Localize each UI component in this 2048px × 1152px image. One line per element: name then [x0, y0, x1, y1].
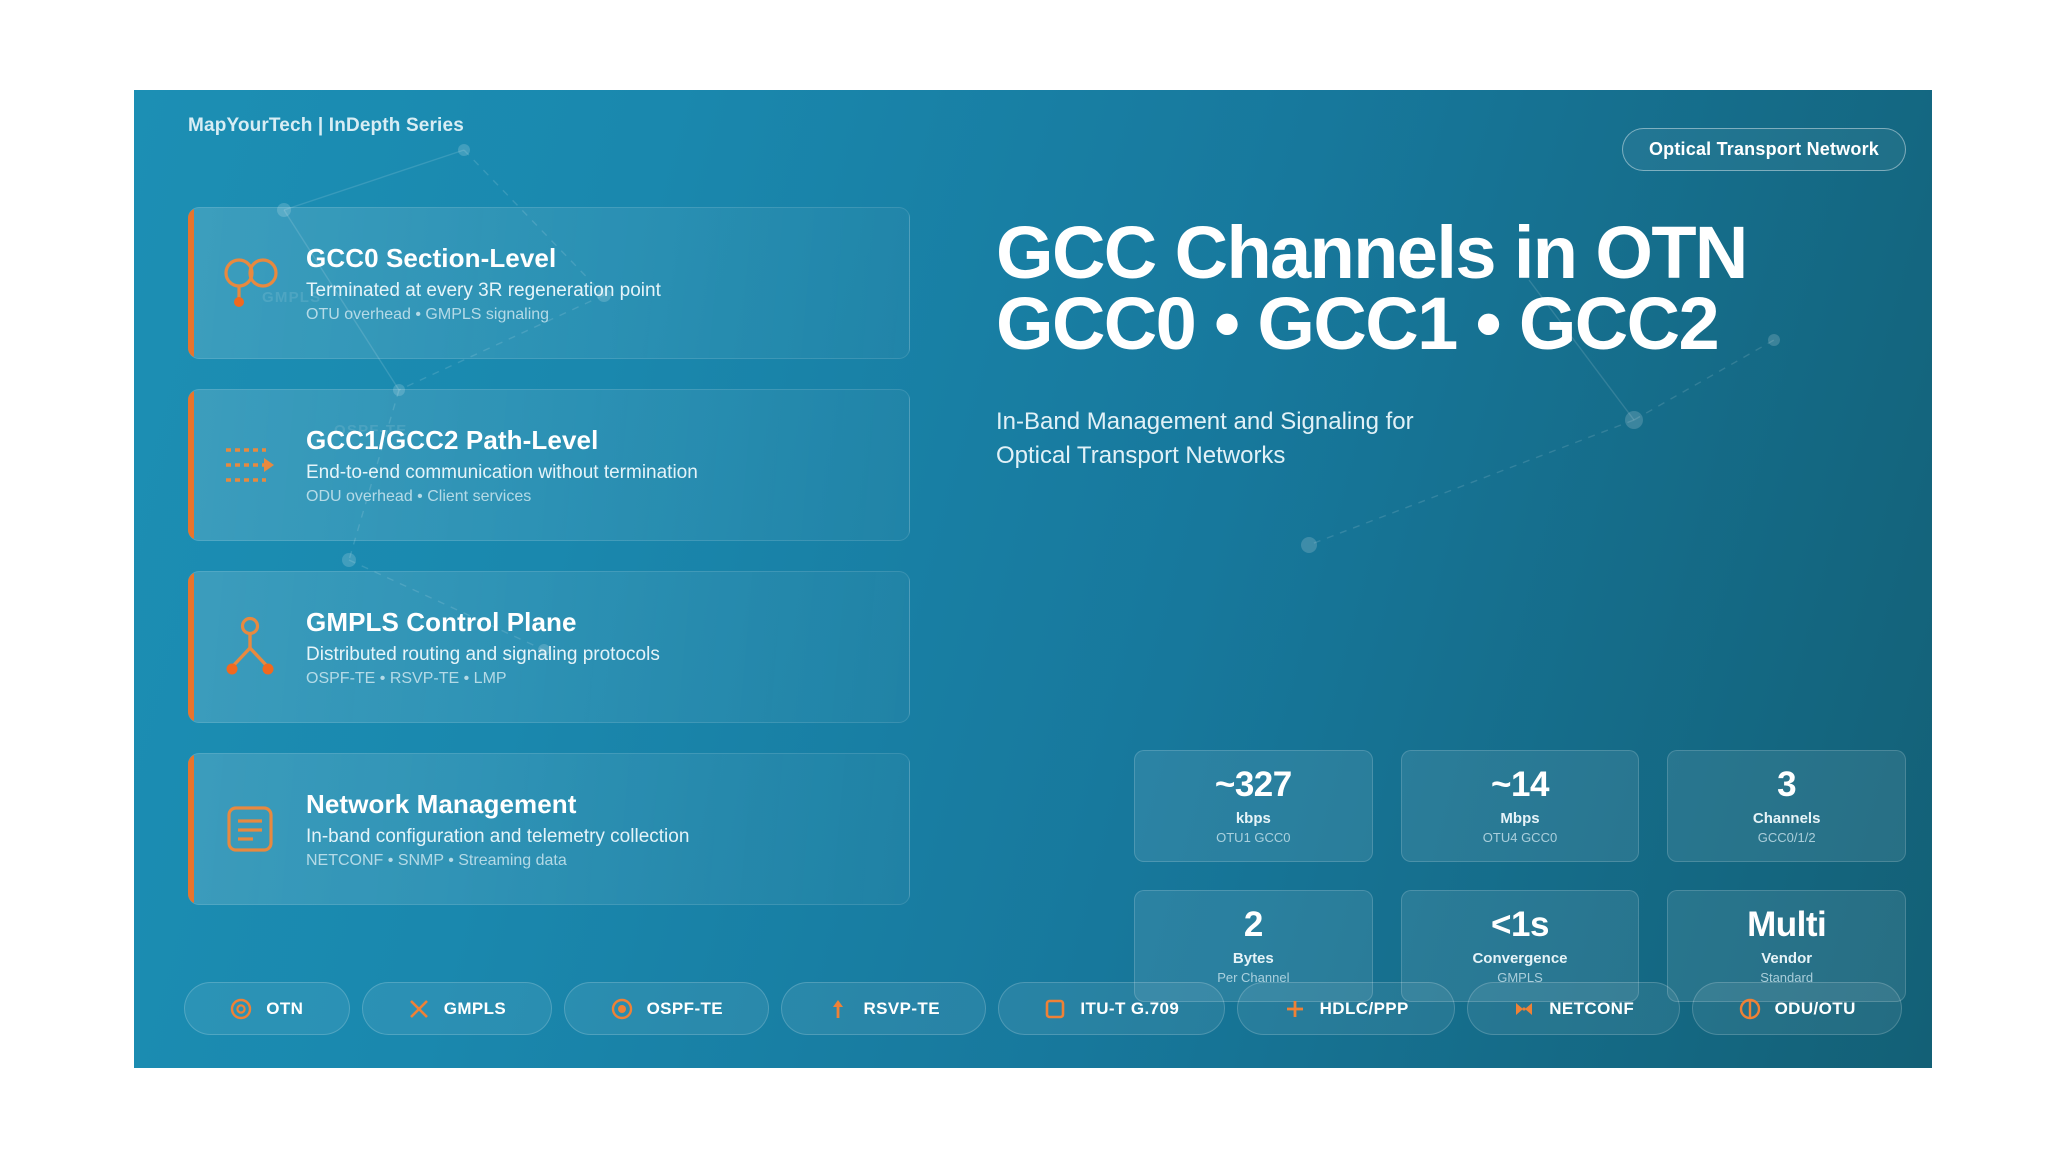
stat-value: ~14	[1491, 767, 1549, 802]
bowtie-icon	[1513, 998, 1535, 1020]
feature-card-title: GCC0 Section-Level	[306, 243, 661, 274]
page-subtitle-line2: Optical Transport Networks	[996, 439, 1876, 473]
square-icon	[1044, 998, 1066, 1020]
page-subtitle: In-Band Management and Signaling for Opt…	[996, 405, 1876, 473]
feature-card-title: GMPLS Control Plane	[306, 607, 660, 638]
x-cross-icon	[408, 998, 430, 1020]
chip-label: RSVP-TE	[863, 999, 939, 1019]
status-badge[interactable]: Optical Transport Network	[1622, 128, 1906, 171]
stat-value: ~327	[1215, 767, 1292, 802]
feature-card-text: Network Management In-band configuration…	[306, 789, 711, 870]
chip-itu-t-g709[interactable]: ITU-T G.709	[998, 982, 1225, 1035]
stat-value: 2	[1244, 907, 1263, 942]
feature-card-meta: NETCONF • SNMP • Streaming data	[306, 852, 689, 870]
chip-label: GMPLS	[444, 999, 506, 1019]
dashed-arrow-lines-icon	[188, 440, 306, 490]
branch-node-icon	[188, 616, 306, 678]
feature-card-title: GCC1/GCC2 Path-Level	[306, 425, 698, 456]
stat-label: Vendor	[1761, 951, 1812, 968]
stat-sublabel: GCC0/1/2	[1758, 831, 1816, 845]
document-lines-icon	[188, 803, 306, 855]
feature-card-desc: In-band configuration and telemetry coll…	[306, 826, 689, 848]
chip-gmpls[interactable]: GMPLS	[362, 982, 553, 1035]
chip-label: ITU-T G.709	[1080, 999, 1179, 1019]
feature-card-network-management[interactable]: Network Management In-band configuration…	[188, 753, 910, 905]
chip-netconf[interactable]: NETCONF	[1467, 982, 1680, 1035]
feature-card-desc: End-to-end communication without termina…	[306, 462, 698, 484]
stat-value: <1s	[1491, 907, 1549, 942]
stat-label: Channels	[1753, 811, 1821, 828]
page-title-line2: GCC0 • GCC1 • GCC2	[996, 288, 1876, 359]
chip-odu-otu[interactable]: ODU/OTU	[1692, 982, 1902, 1035]
stat-card[interactable]: ~327 kbps OTU1 GCC0	[1134, 750, 1373, 862]
stat-label: Mbps	[1500, 811, 1539, 828]
status-badge-label: Optical Transport Network	[1649, 139, 1879, 160]
brand-label: MapYourTech | InDepth Series	[188, 115, 464, 137]
stat-sublabel: OTU1 GCC0	[1216, 831, 1290, 845]
slide-canvas: GMPLS OSPF-TE MapYourTech | InDepth Seri…	[0, 0, 2048, 1152]
protocol-chip-row: OTN GMPLS OSPF-TE	[184, 982, 1902, 1035]
up-arrow-icon	[827, 998, 849, 1020]
feature-card-title: Network Management	[306, 789, 689, 820]
chip-hdlc-ppp[interactable]: HDLC/PPP	[1237, 982, 1455, 1035]
feature-card-desc: Distributed routing and signaling protoc…	[306, 644, 660, 666]
stat-value: Multi	[1747, 907, 1826, 942]
stat-label: Convergence	[1472, 951, 1567, 968]
chip-label: OTN	[266, 999, 303, 1019]
feature-card-text: GMPLS Control Plane Distributed routing …	[306, 607, 682, 688]
stat-card[interactable]: 3 Channels GCC0/1/2	[1667, 750, 1906, 862]
plus-icon	[1284, 998, 1306, 1020]
hero-block: GCC Channels in OTN GCC0 • GCC1 • GCC2 I…	[996, 217, 1876, 473]
feature-card-list: GCC0 Section-Level Terminated at every 3…	[188, 207, 910, 935]
chip-otn[interactable]: OTN	[184, 982, 350, 1035]
stat-grid: ~327 kbps OTU1 GCC0 ~14 Mbps OTU4 GCC0 3…	[1134, 750, 1906, 1002]
two-circles-node-icon	[188, 254, 306, 312]
stat-card[interactable]: ~14 Mbps OTU4 GCC0	[1401, 750, 1640, 862]
chip-label: OSPF-TE	[647, 999, 723, 1019]
feature-card-meta: OTU overhead • GMPLS signaling	[306, 306, 661, 324]
chip-label: NETCONF	[1549, 999, 1634, 1019]
feature-card-meta: OSPF-TE • RSVP-TE • LMP	[306, 670, 660, 688]
dot-target-icon	[611, 998, 633, 1020]
feature-card-text: GCC0 Section-Level Terminated at every 3…	[306, 243, 683, 324]
stat-value: 3	[1777, 767, 1796, 802]
stat-sublabel: OTU4 GCC0	[1483, 831, 1557, 845]
page-subtitle-line1: In-Band Management and Signaling for	[996, 405, 1876, 439]
feature-card-gmpls[interactable]: GMPLS Control Plane Distributed routing …	[188, 571, 910, 723]
feature-card-gcc0[interactable]: GCC0 Section-Level Terminated at every 3…	[188, 207, 910, 359]
chip-label: HDLC/PPP	[1320, 999, 1409, 1019]
feature-card-meta: ODU overhead • Client services	[306, 488, 698, 506]
feature-card-desc: Terminated at every 3R regeneration poin…	[306, 280, 661, 302]
page-title: GCC Channels in OTN GCC0 • GCC1 • GCC2	[996, 217, 1876, 359]
chip-ospf-te[interactable]: OSPF-TE	[564, 982, 769, 1035]
stat-label: Bytes	[1233, 951, 1274, 968]
feature-card-text: GCC1/GCC2 Path-Level End-to-end communic…	[306, 425, 720, 506]
split-circle-icon	[1739, 998, 1761, 1020]
chip-rsvp-te[interactable]: RSVP-TE	[781, 982, 986, 1035]
feature-card-gcc1-gcc2[interactable]: GCC1/GCC2 Path-Level End-to-end communic…	[188, 389, 910, 541]
stat-label: kbps	[1236, 811, 1271, 828]
chip-label: ODU/OTU	[1775, 999, 1856, 1019]
slide-panel: GMPLS OSPF-TE MapYourTech | InDepth Seri…	[134, 90, 1932, 1068]
ring-icon	[230, 998, 252, 1020]
